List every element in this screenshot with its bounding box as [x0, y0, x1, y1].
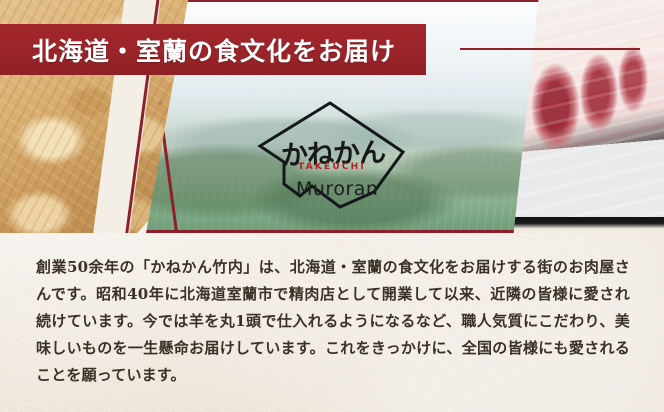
promo-banner-page: 北海道・室蘭の食文化をお届け かねかん TAKEUCHI Muroran 創業5…: [0, 0, 664, 412]
title-banner: 北海道・室蘭の食文化をお届け: [0, 24, 426, 75]
page-title: 北海道・室蘭の食文化をお届け: [0, 32, 396, 68]
brand-logo: かねかん TAKEUCHI Muroran: [236, 96, 426, 224]
body-copy-text: 創業50余年の「かねかん竹内」は、北海道・室蘭の食文化をお届けする街のお肉屋さん…: [36, 254, 630, 389]
body-copy-block: 創業50余年の「かねかん竹内」は、北海道・室蘭の食文化をお届けする街のお肉屋さん…: [0, 236, 664, 412]
logo-city-text: Muroran: [296, 178, 424, 200]
header-rule: [460, 48, 640, 50]
logo-subtitle-text: TAKEUCHI: [266, 162, 398, 172]
lamb-photo-base: [509, 217, 664, 233]
